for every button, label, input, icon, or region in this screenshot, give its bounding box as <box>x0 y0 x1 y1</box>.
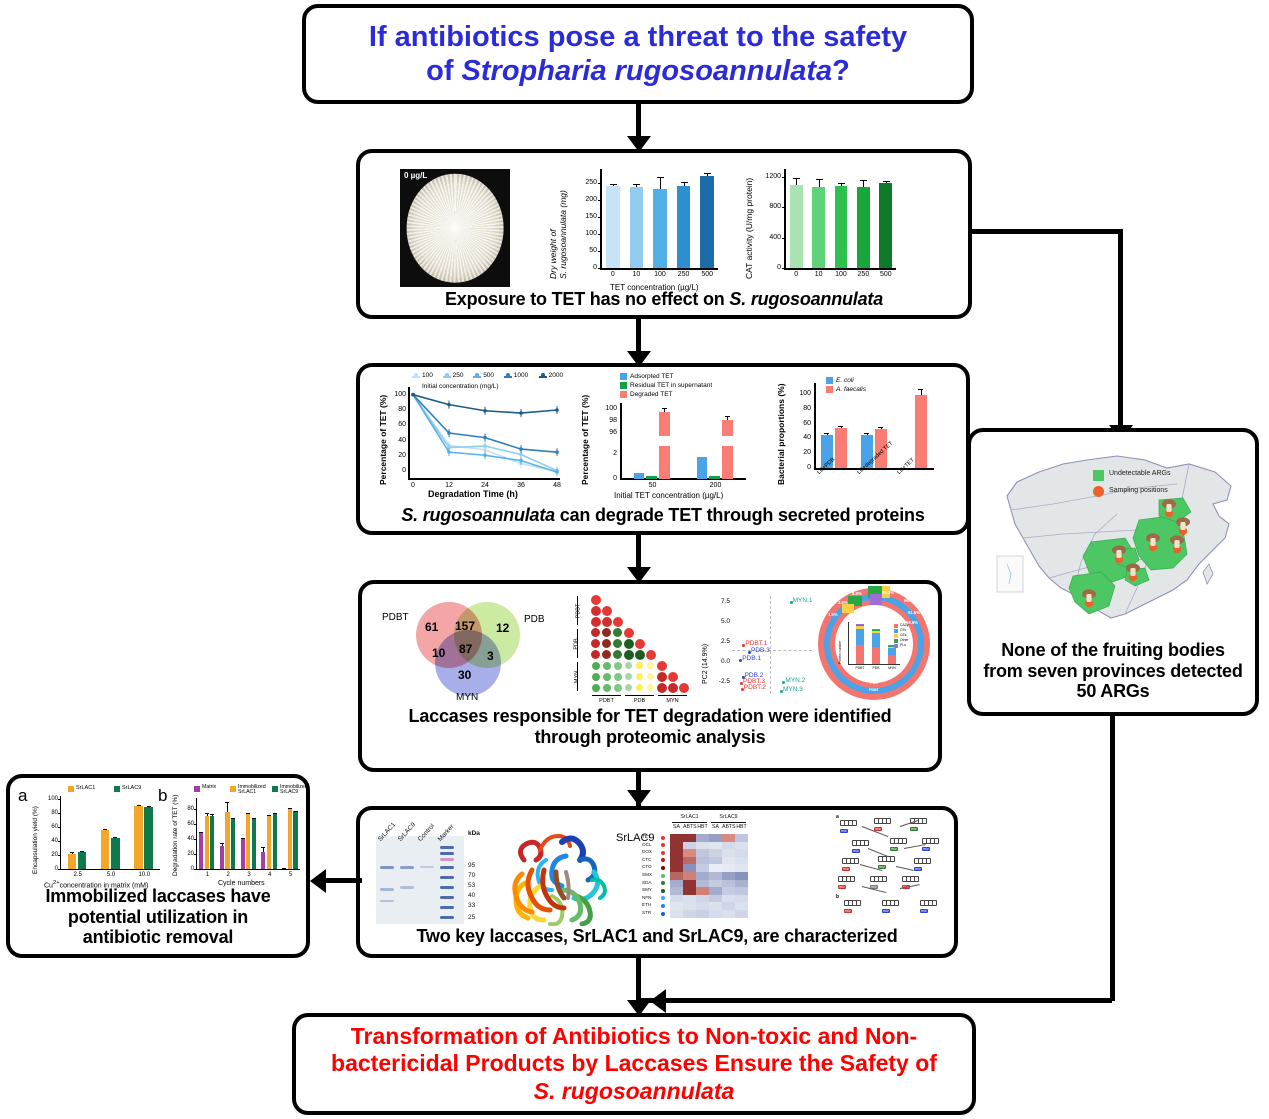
gel-kda-25: 25 <box>468 914 475 921</box>
errorbar <box>819 180 820 187</box>
gel-marker-band-5 <box>440 886 454 889</box>
errorbar-cap <box>267 815 271 816</box>
xtick-0: 0 <box>601 271 625 278</box>
graphical-abstract: If antibiotics pose a threat to the safe… <box>0 0 1269 1119</box>
title-line1: If antibiotics pose a threat to the safe… <box>369 21 907 53</box>
bar-5.0-SrLAC9 <box>111 838 120 869</box>
ytick-400: 400 <box>763 234 781 241</box>
mushroom-stem-1 <box>1180 522 1185 530</box>
caption-proteomic: Laccases responsible for TET degradation… <box>362 706 938 747</box>
ytick-800: 800 <box>763 203 781 210</box>
gel-marker-band-6 <box>440 896 454 899</box>
ytick-100: 100 <box>795 390 811 397</box>
bar-1-Immobilized SrLAC9 <box>210 816 214 869</box>
bar-1-Immobilized SrLAC1 <box>205 816 209 869</box>
map-legend-label-sampling: Sampling positions <box>1109 487 1168 494</box>
bar-lower-200-Adsorpted TET <box>697 457 708 479</box>
degradation-ylabel: Percentage of TET (%) <box>378 395 388 485</box>
ring <box>864 840 869 846</box>
inner-bar-PDB-GTs <box>872 633 880 648</box>
venn-count-pdbt-myn: 10 <box>432 646 445 660</box>
petri-dose-label: 0 µg/L <box>404 171 427 180</box>
bar-lower-50-Adsorpted TET <box>634 473 645 479</box>
title-species: Stropharia rugosoannulata <box>462 55 833 87</box>
heatmap-cell <box>709 864 722 872</box>
bar-lower-50-Residual TET in supernatant <box>646 476 657 479</box>
point <box>411 393 415 397</box>
ring <box>932 900 937 906</box>
heatmap-cell <box>709 880 722 888</box>
ytick-0: 0 <box>763 264 781 271</box>
corr-dot <box>647 684 654 691</box>
errorbar-cap <box>704 173 711 174</box>
caption-characterized: Two key laccases, SrLAC1 and SrLAC9, are… <box>360 926 954 947</box>
col-group-PDBT: PDBT <box>590 698 623 704</box>
ytick-40: 40 <box>388 437 406 444</box>
bact-xaxis <box>814 468 934 470</box>
gel-kda-33: 33 <box>468 902 475 909</box>
xtick-50: 50 <box>621 482 684 489</box>
corr-dot <box>603 684 611 692</box>
ring-segment-2 <box>870 594 882 605</box>
cycles-legend-swatch-Immobilized SrLAC1 <box>230 786 236 792</box>
heatmap-cell <box>709 887 722 895</box>
corr-dot <box>647 662 654 669</box>
gel-marker-band-4 <box>440 876 454 879</box>
corr-dot <box>591 595 601 605</box>
mushroom-stem-5 <box>1130 568 1135 576</box>
caption-exposure-species: S. rugosoannulata <box>729 289 883 309</box>
ytick-80: 80 <box>388 406 406 413</box>
legend-label-2: Degraded TET <box>630 391 673 398</box>
heatmap-cell <box>722 864 735 872</box>
cycles-ylabel: Degradation rate of TET (%) <box>172 795 179 876</box>
ring-pct-5: 91.5% <box>908 610 920 615</box>
heatmap-row-CTO: CTO <box>642 864 652 869</box>
encap-legend-label-SrLAC9: SrLAC9 <box>122 785 141 791</box>
corr-dot <box>591 617 601 627</box>
pca-vgrid <box>770 596 771 694</box>
bar-2.5-SrLAC9 <box>78 852 87 869</box>
molecule-label: m/z <box>844 909 852 913</box>
heatmap-colgroup-rule <box>672 822 707 823</box>
chemical-pathway-scheme: m/zm/zm/zm/zm/zm/zm/zm/zm/zm/zm/zm/zm/zm… <box>834 814 954 926</box>
inner-xtick-PDB: PDB <box>868 666 884 670</box>
errorbar-cap <box>681 182 688 183</box>
heatmap-colgroup-rule <box>711 822 746 823</box>
molecule-label: m/z <box>842 867 850 871</box>
mushroom-stem-0 <box>1166 504 1171 512</box>
pca-label-PDBT.2: PDBT.2 <box>744 684 766 691</box>
ring-segment-4 <box>842 604 854 613</box>
corr-dot <box>647 673 654 680</box>
xtick-0: 0 <box>405 482 421 489</box>
corr-dot <box>636 684 643 691</box>
errorbar-cap <box>793 178 800 179</box>
inner-stacked-bars: PDBTPDBMYNProtein number <box>848 622 900 664</box>
errorbar <box>660 178 661 189</box>
col-group-rule <box>658 695 687 696</box>
corr-dot <box>668 683 678 693</box>
mushroom-stem-4 <box>1116 550 1121 558</box>
molecule-label: m/z <box>910 827 918 831</box>
fate-ylabel: Percentage of TET (%) <box>580 395 590 485</box>
ring <box>934 838 939 844</box>
ytick-2: 2 <box>601 450 617 457</box>
xtick-10.0: 10.0 <box>128 872 161 878</box>
errorbar-cap <box>113 837 117 838</box>
corr-dot <box>592 673 600 681</box>
heatmap-subcol-SrLAC1-ABTS: ABTS <box>683 824 696 830</box>
heatmap-cell <box>735 895 748 903</box>
ytick-60: 60 <box>179 821 194 827</box>
heatmap-row-marker-DOX <box>661 851 665 855</box>
bar-5.0-SrLAC1 <box>101 830 110 869</box>
errorbar-cap <box>210 814 214 815</box>
heatmap-row-OCL: OCL <box>642 842 651 847</box>
legend-label-1000: 1000 <box>514 372 528 379</box>
bar-5-Immobilized SrLAC9 <box>293 811 297 869</box>
errorbar-cap <box>838 426 843 427</box>
ring-name-PDB: PDB <box>862 681 886 685</box>
xtick-500: 500 <box>875 271 897 278</box>
legend-label-100: 100 <box>422 372 433 379</box>
substrate-heatmap: TETOCLDOXCTCCTOSMXSDASMYNFNETHSTRSrLAC1S… <box>642 814 828 926</box>
conclusion-species: S. rugosoannulata <box>534 1078 735 1104</box>
taiwan <box>1203 564 1213 584</box>
gel-kda-unit: kDa <box>468 830 480 837</box>
legend-title: Initial concentration (mg/L) <box>422 383 499 390</box>
gel-kda-40: 40 <box>468 892 475 899</box>
corr-dot <box>635 650 645 660</box>
connector-map-to-bottom-v <box>1110 716 1115 1001</box>
conclusion-l2: bactericidal Products by Laccases Ensure… <box>331 1050 937 1076</box>
ytick-mark <box>58 841 61 842</box>
bar-1-Matrix <box>199 833 203 869</box>
bar-lower-200-Residual TET in supernatant <box>709 476 720 479</box>
heatmap-cell <box>722 849 735 857</box>
heatmap-cell <box>683 849 696 857</box>
heatmap-cell <box>709 872 722 880</box>
heatmap-cell <box>683 895 696 903</box>
legend-swatch-0 <box>620 373 627 380</box>
errorbar-cap <box>220 843 224 844</box>
inner-legend-label-GTs: GTs <box>900 628 906 632</box>
mushroom-stem-6 <box>1086 594 1091 602</box>
heatmap-cell <box>670 910 683 918</box>
heatmap-cell <box>670 895 683 903</box>
chart-encapsulation-yield: Encapsulation yield (%) SrLAC1SrLAC9 2.5… <box>30 784 170 888</box>
inner-legend-swatch-CAZy <box>894 624 898 628</box>
gel-marker-band-1 <box>440 852 454 855</box>
heatmap-cell <box>683 872 696 880</box>
ytick-100: 100 <box>388 391 406 398</box>
errorbar-cap <box>231 818 235 819</box>
corr-dot <box>625 673 632 680</box>
errorbar-cap <box>878 427 883 428</box>
inner-bar-PDBT-Other <box>856 625 864 627</box>
gel-band-0 <box>380 866 394 869</box>
xtick-250: 250 <box>852 271 874 278</box>
ytick-80: 80 <box>795 405 811 412</box>
corr-dot <box>657 672 667 682</box>
connector-title-to-exposure <box>636 104 641 140</box>
fate-xlabel: Initial TET concentration (µg/L) <box>614 491 723 500</box>
heatmap-cell <box>722 887 735 895</box>
heatmap-row-SMX: SMX <box>642 872 652 877</box>
gel-band-5 <box>420 866 434 868</box>
subpanel-a-label: a <box>18 786 27 806</box>
bar-4-Matrix <box>261 852 265 869</box>
pathway-a-label: a <box>836 814 839 820</box>
ytick-98: 98 <box>599 417 617 424</box>
line-series-100 <box>413 395 557 472</box>
row-group-PDBT: PDBT <box>575 603 581 618</box>
heatmap-row-STR: STR <box>642 910 651 915</box>
xtick-4: 4 <box>259 872 280 878</box>
errorbar-cap <box>725 416 730 417</box>
molecule-label: m/z <box>920 909 928 913</box>
heatmap-row-TET: TET <box>642 834 651 839</box>
pca-ytick-7.5: 7.5 <box>706 598 730 605</box>
ring <box>882 876 887 882</box>
errorbar-cap <box>273 813 277 814</box>
corr-dot <box>614 662 622 670</box>
inner-legend-swatch-PLs <box>894 644 898 648</box>
dry-weight-xaxis <box>600 268 718 270</box>
ytick-0: 0 <box>579 264 597 271</box>
bact-plot-area: LB+PDBLB+degraded TETLB+TET020406080100 <box>815 383 935 468</box>
heatmap-cell <box>722 842 735 850</box>
cycles-plot-area: 12345020406080 <box>197 798 301 869</box>
ytick-1200: 1200 <box>763 173 781 180</box>
bar-upper-50-Degraded TET <box>659 412 670 436</box>
row-group-MYN: MYN <box>574 670 580 682</box>
heatmap-subcol-SrLAC1-HBT: HBT <box>696 824 709 830</box>
caption-immobilized-l1: Immobilized laccases have <box>45 886 270 906</box>
venn-count-pdbt-pdb: 157 <box>455 619 475 633</box>
bar-3-Immobilized SrLAC9 <box>252 819 256 869</box>
heatmap-row-SDA: SDA <box>642 880 651 885</box>
inner-bar-PDBT-GTs <box>856 629 864 646</box>
ytick-100: 100 <box>43 796 58 802</box>
xtick-36: 36 <box>513 482 529 489</box>
bar-upper-200-Degraded TET <box>722 420 733 436</box>
col-group-rule <box>592 695 621 696</box>
heatmap-cell <box>696 887 709 895</box>
molecule-label: m/z <box>922 847 930 851</box>
corr-dot <box>624 650 634 660</box>
ring <box>922 818 927 824</box>
xtick-1: 1 <box>197 872 218 878</box>
molecule <box>842 858 860 866</box>
title-box: If antibiotics pose a threat to the safe… <box>302 4 974 104</box>
heatmap-cell <box>670 842 683 850</box>
gel-marker-band-2 <box>440 858 454 861</box>
heatmap-row-ETH: ETH <box>642 902 651 907</box>
xtick-3: 3 <box>239 872 260 878</box>
ytick-mark <box>782 207 785 208</box>
degradation-legend: 10025050010002000Initial concentration (… <box>412 373 572 389</box>
errorbar-cap <box>147 806 151 807</box>
heatmap-row-marker-STR <box>661 912 665 916</box>
errorbar-cap <box>294 811 298 812</box>
inner-xaxis <box>848 664 900 665</box>
heatmap-row-marker-SMX <box>661 874 665 878</box>
gel-band-2 <box>380 900 394 902</box>
heatmap-row-CTC: CTC <box>642 857 651 862</box>
heatmap-row-marker-CTC <box>661 858 665 862</box>
heatmap-subcol-SrLAC9-SA: SA <box>709 824 722 830</box>
heatmap-colgroup-SrLAC1: SrLAC1 <box>670 814 709 820</box>
bar-4-Immobilized SrLAC1 <box>267 816 271 869</box>
venn-count-pdbt-only: 61 <box>425 620 438 634</box>
heatmap-cell <box>735 849 748 857</box>
chart-tet-fate: Percentage of TET (%) Adsorpted TETResid… <box>578 373 768 501</box>
errorbar <box>886 182 887 183</box>
page-title: If antibiotics pose a threat to the safe… <box>357 20 919 88</box>
encap-legend-label-SrLAC1: SrLAC1 <box>76 785 95 791</box>
ytick-mark <box>782 268 785 269</box>
ytick-150: 150 <box>579 213 597 220</box>
ytick-20: 20 <box>179 851 194 857</box>
ytick-0: 0 <box>388 467 406 474</box>
subpanel-b-label: b <box>158 786 167 806</box>
gel-kda-53: 53 <box>468 882 475 889</box>
ytick-mark <box>58 827 61 828</box>
china-outline <box>1007 456 1231 618</box>
gel-marker-band-0 <box>440 846 454 849</box>
ytick-mark <box>58 869 61 870</box>
inner-legend-label-CEs: CEs <box>900 633 906 637</box>
pca-label-MYN.2: MYN.2 <box>785 677 805 684</box>
heatmap-cell <box>709 857 722 865</box>
errorbar-cap <box>246 813 250 814</box>
colony-center <box>446 218 463 238</box>
ring <box>902 838 907 844</box>
molecule-label: m/z <box>890 847 898 851</box>
heatmap-cell <box>683 910 696 918</box>
ytick-100: 100 <box>599 405 617 412</box>
heatmap-cell <box>696 857 709 865</box>
corr-dot <box>613 617 623 627</box>
bar-4-Immobilized SrLAC9 <box>273 814 277 869</box>
petri-dish-photo: 0 µg/L <box>400 169 510 287</box>
gel-marker-band-7 <box>440 906 454 909</box>
caption-map: None of the fruiting bodies from seven p… <box>971 640 1255 702</box>
errorbar-cap <box>205 813 209 814</box>
degradation-lines <box>409 387 561 479</box>
ytick-mark <box>58 855 61 856</box>
heatmap-cell <box>696 834 709 842</box>
heatmap-cell <box>696 872 709 880</box>
heatmap-cell <box>735 842 748 850</box>
connector-exposure-to-map-v <box>1118 229 1123 431</box>
corr-dot <box>591 639 600 648</box>
inner-legend-label-CAZy: CAZy <box>900 623 908 627</box>
heatmap-cell <box>696 849 709 857</box>
heatmap-cell <box>709 849 722 857</box>
inner-legend-swatch-Other <box>894 639 898 643</box>
ytick-0: 0 <box>43 866 58 872</box>
legend-label-500: 500 <box>483 372 494 379</box>
heatmap-cell <box>722 880 735 888</box>
caption-proteomic-l2: through proteomic analysis <box>535 727 766 747</box>
errorbar-cap <box>80 851 84 852</box>
corr-dot <box>603 673 611 681</box>
ytick-60: 60 <box>388 421 406 428</box>
ytick-mark <box>598 268 601 269</box>
cycles-legend-swatch-Matrix <box>194 786 200 792</box>
degradation-xlabel: Degradation Time (h) <box>428 489 518 499</box>
cat-plot-area: 01010025050004008001200 <box>785 169 897 268</box>
inner-xtick-MYN: MYN <box>884 666 900 670</box>
conclusion-box: Transformation of Antibiotics to Non-tox… <box>292 1013 976 1115</box>
legend-swatch-1 <box>620 382 627 389</box>
gel-band-1 <box>380 888 394 891</box>
legend-label-250: 250 <box>453 372 464 379</box>
errorbar-cap <box>883 181 890 182</box>
venn-label-pdbt: PDBT <box>382 612 409 623</box>
bar-10.0-SrLAC1 <box>134 806 143 869</box>
errorbar <box>841 184 842 186</box>
ytick-250: 250 <box>579 179 597 186</box>
xtick-2.5: 2.5 <box>61 872 94 878</box>
encap-ylabel: Encapsulation yield (%) <box>32 806 39 874</box>
venn-count-myn-only: 30 <box>458 668 471 682</box>
heatmap-cell <box>670 902 683 910</box>
heatmap-row-marker-CTO <box>661 866 665 870</box>
inner-bar-PDB-PLs <box>872 629 880 630</box>
protein-structure-render <box>506 826 618 926</box>
inner-bar-PDBT-CEs <box>856 626 864 628</box>
corr-dot <box>613 650 622 659</box>
xtick-200: 200 <box>684 482 747 489</box>
ytick-0: 0 <box>601 475 617 482</box>
arrow-map-to-center <box>650 989 666 1013</box>
row-group-PDB: PDB <box>574 638 580 649</box>
heatmap-cell <box>696 895 709 903</box>
ytick-mark <box>58 813 61 814</box>
bar-250 <box>677 186 691 268</box>
errorbar-cap <box>70 852 74 853</box>
molecule-label: m/z <box>838 885 846 889</box>
errorbar-cap <box>860 180 867 181</box>
bact-ylabel: Bacterial proportions (%) <box>776 383 786 485</box>
inner-bar-PDBT-PLs <box>856 624 864 625</box>
corr-dot <box>657 661 667 671</box>
venn-count-pdb-only: 12 <box>496 621 509 635</box>
ring-pct-0: 98.3% <box>882 590 894 595</box>
heatmap-cell <box>722 910 735 918</box>
heatmap-cell <box>709 910 722 918</box>
chart-cat-activity: CAT activity (U/mg protein) 010100250500… <box>738 161 918 293</box>
caption-proteomic-l1: Laccases responsible for TET degradation… <box>409 706 892 726</box>
errorbar-cap <box>816 179 823 180</box>
pca-label-PDB.1: PDB.1 <box>742 655 761 662</box>
heatmap-cell <box>683 887 696 895</box>
heatmap-cell <box>670 834 683 842</box>
ring-pct-4: 96.5% <box>904 598 916 603</box>
gel-marker-band-3 <box>440 866 454 869</box>
inner-bar-PDB-CEs <box>872 631 880 633</box>
panel-degrade: Percentage of TET (%) 10025050010002000I… <box>356 363 970 535</box>
bar-5-Immobilized SrLAC1 <box>288 809 292 869</box>
ring-pct-1: 8.9% <box>852 591 862 596</box>
molecule <box>838 876 856 884</box>
ytick-20: 20 <box>388 452 406 459</box>
bar-10.0-SrLAC9 <box>144 807 153 869</box>
